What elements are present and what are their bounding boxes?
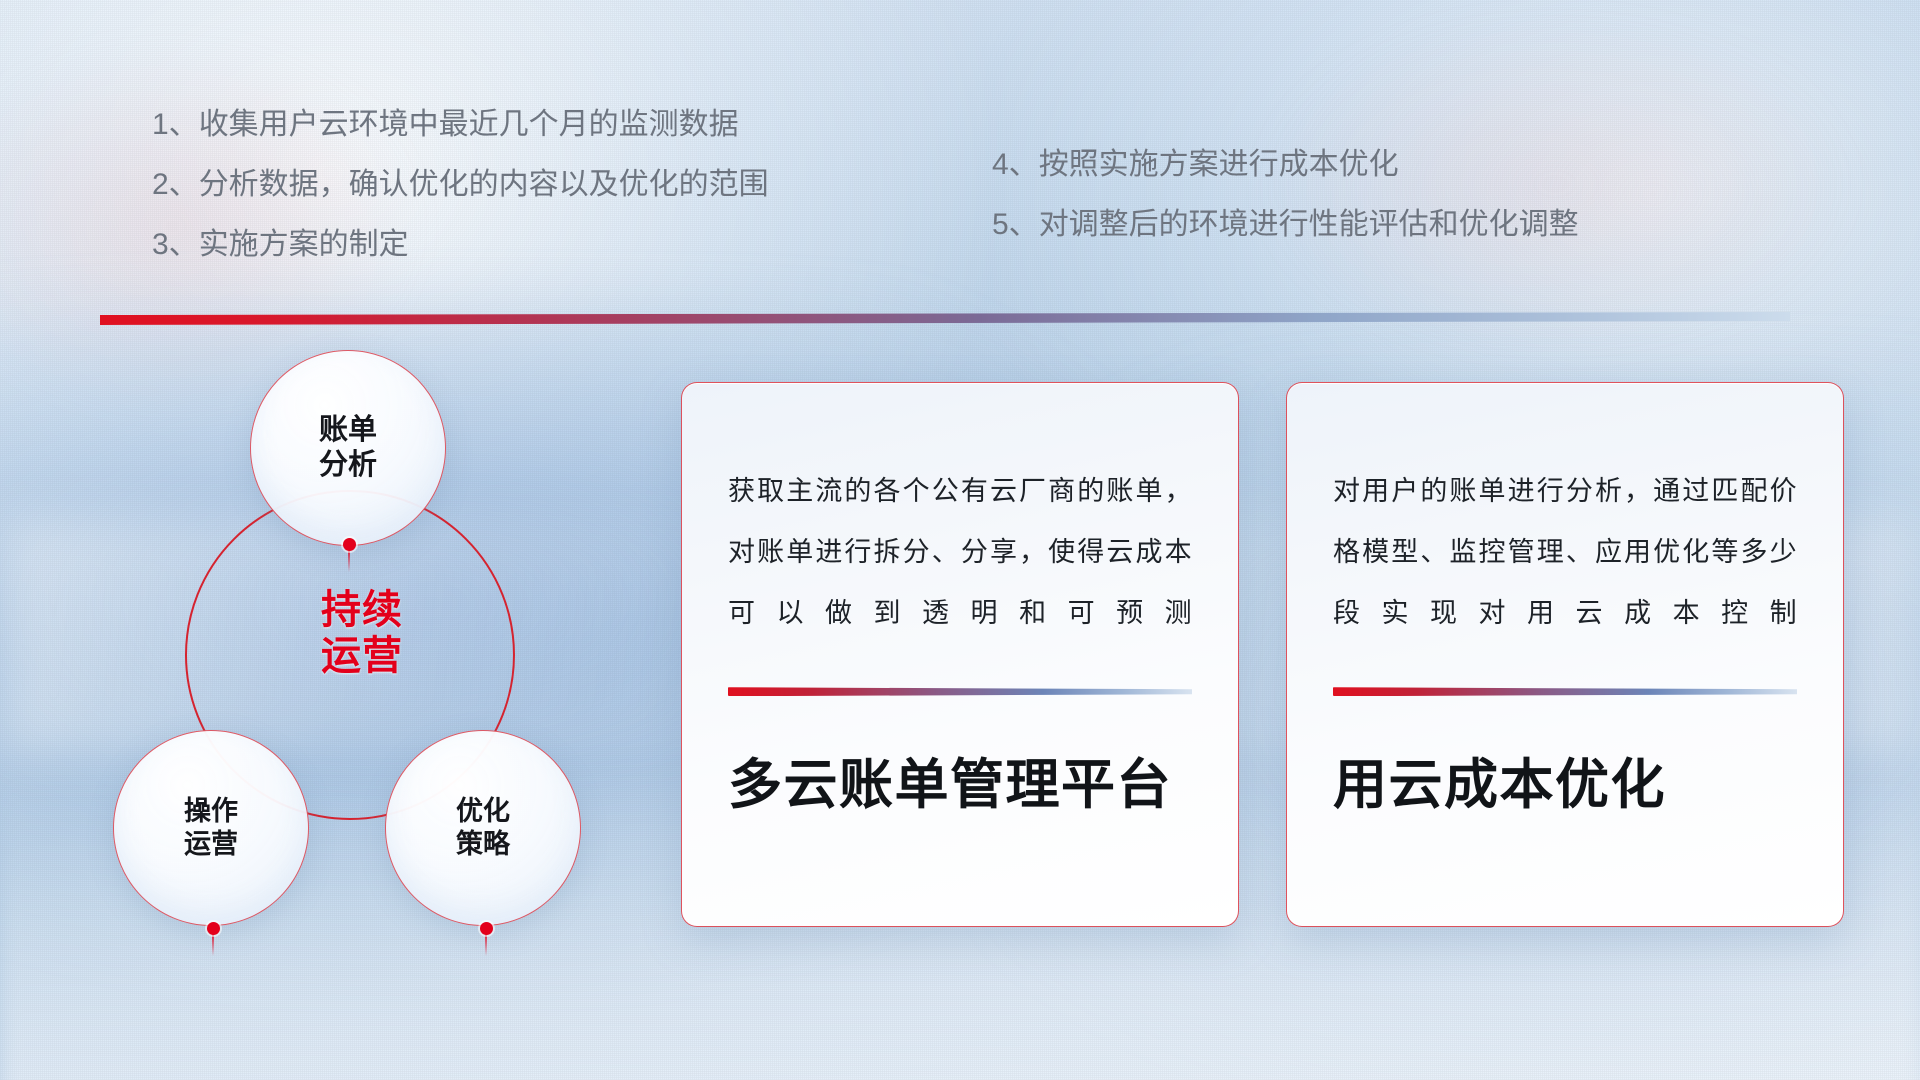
card-accent-rule (728, 687, 1192, 696)
card-description: 对用户的账单进行分析，通过匹配价格模型、监控管理、应用优化等多少段实现对用云成本… (1333, 461, 1797, 643)
card-description: 获取主流的各个公有云厂商的账单，对账单进行拆分、分享，使得云成本可以做到透明和可… (728, 461, 1192, 643)
card-multi-cloud-billing-platform[interactable]: 获取主流的各个公有云厂商的账单，对账单进行拆分、分享，使得云成本可以做到透明和可… (681, 382, 1239, 927)
feature-cards-region: 获取主流的各个公有云厂商的账单，对账单进行拆分、分享，使得云成本可以做到透明和可… (0, 0, 1920, 1080)
card-cloud-cost-optimization[interactable]: 对用户的账单进行分析，通过匹配价格模型、监控管理、应用优化等多少段实现对用云成本… (1286, 382, 1844, 927)
card-title: 用云成本优化 (1333, 756, 1797, 815)
card-accent-rule (1333, 687, 1797, 696)
card-title: 多云账单管理平台 (728, 756, 1192, 815)
